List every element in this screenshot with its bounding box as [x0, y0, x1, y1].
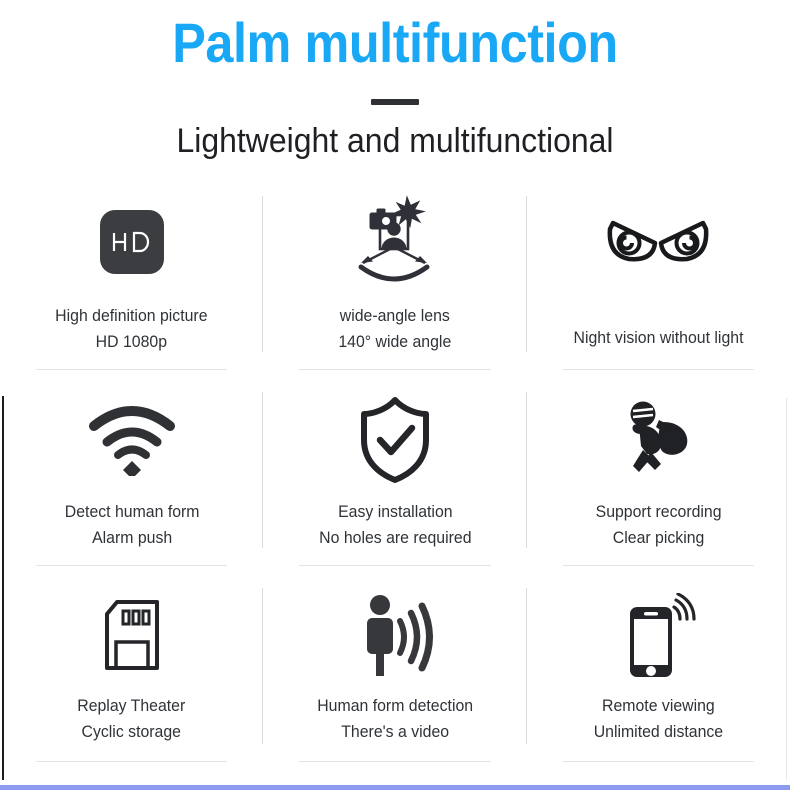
sd-card-icon	[99, 588, 165, 684]
shield-check-icon	[356, 392, 434, 488]
cell-divider	[299, 761, 490, 762]
feature-labels: Remote viewing Unlimited distance	[591, 694, 726, 745]
person-motion-sensor-icon	[352, 588, 438, 684]
cell-divider	[36, 761, 227, 762]
cell-divider	[36, 565, 227, 566]
wifi-signal-icon	[86, 392, 178, 488]
feature-grid: High definition picture HD 1080p	[0, 182, 790, 770]
feature-cell-night-vision: Night vision without light	[527, 182, 790, 378]
feature-line-1: Human form detection	[317, 694, 473, 720]
feature-labels: Replay Theater Cyclic storage	[75, 694, 188, 745]
page-title: Palm multifunction	[40, 14, 751, 73]
cell-divider	[563, 565, 754, 566]
feature-line-2: Unlimited distance	[594, 720, 723, 746]
feature-line-1: Remote viewing	[594, 694, 723, 720]
feature-line-2: HD 1080p	[55, 330, 207, 356]
cell-divider	[563, 761, 754, 762]
feature-cell-easy-install: Easy installation No holes are required	[263, 378, 526, 574]
feature-cell-human-detect: Detect human form Alarm push	[0, 378, 263, 574]
feature-line-2: 140° wide angle	[339, 330, 452, 356]
feature-labels: Easy installation No holes are required	[316, 500, 475, 551]
page-header: Palm multifunction Lightweight and multi…	[0, 0, 790, 160]
feature-cell-replay: Replay Theater Cyclic storage	[0, 574, 263, 770]
feature-line-1: Support recording	[595, 500, 721, 526]
feature-labels: High definition picture HD 1080p	[52, 304, 211, 355]
feature-line-1: Easy installation	[319, 500, 471, 526]
feature-cell-hd: High definition picture HD 1080p	[0, 182, 263, 378]
page-edge-bottom-accent	[0, 785, 790, 790]
smartphone-signal-icon	[618, 588, 698, 684]
feature-cell-human-form: Human form detection There's a video	[263, 574, 526, 770]
feature-line-2: There's a video	[317, 720, 473, 746]
title-divider-dash	[371, 99, 419, 105]
cell-divider	[299, 565, 490, 566]
page-subtitle: Lightweight and multifunctional	[24, 123, 767, 160]
feature-line-2: Clear picking	[595, 526, 721, 552]
feature-labels: Night vision without light	[570, 326, 747, 352]
night-vision-eyes-icon	[603, 188, 713, 296]
burglar-with-sack-icon	[617, 392, 699, 488]
wide-angle-camera-icon	[345, 188, 445, 296]
feature-line-2: No holes are required	[319, 526, 471, 552]
feature-line-2: Alarm push	[64, 526, 199, 552]
feature-line-1: Replay Theater	[78, 694, 186, 720]
feature-cell-wide-angle: wide-angle lens 140° wide angle	[263, 182, 526, 378]
page-edge-left	[2, 396, 4, 780]
feature-labels: Detect human form Alarm push	[62, 500, 202, 551]
feature-line-1: High definition picture	[55, 304, 207, 330]
feature-labels: Support recording Clear picking	[593, 500, 724, 551]
feature-cell-remote-viewing: Remote viewing Unlimited distance	[527, 574, 790, 770]
cell-divider	[36, 369, 227, 370]
cell-divider	[563, 369, 754, 370]
feature-line-2: Cyclic storage	[78, 720, 186, 746]
feature-line-1: Night vision without light	[573, 326, 743, 352]
hd-badge-icon	[100, 188, 164, 296]
feature-labels: wide-angle lens 140° wide angle	[336, 304, 454, 355]
feature-line-1: Detect human form	[64, 500, 199, 526]
cell-divider	[299, 369, 490, 370]
feature-labels: Human form detection There's a video	[314, 694, 476, 745]
feature-cell-recording: Support recording Clear picking	[527, 378, 790, 574]
feature-line-1: wide-angle lens	[339, 304, 452, 330]
page-edge-right	[786, 398, 787, 780]
